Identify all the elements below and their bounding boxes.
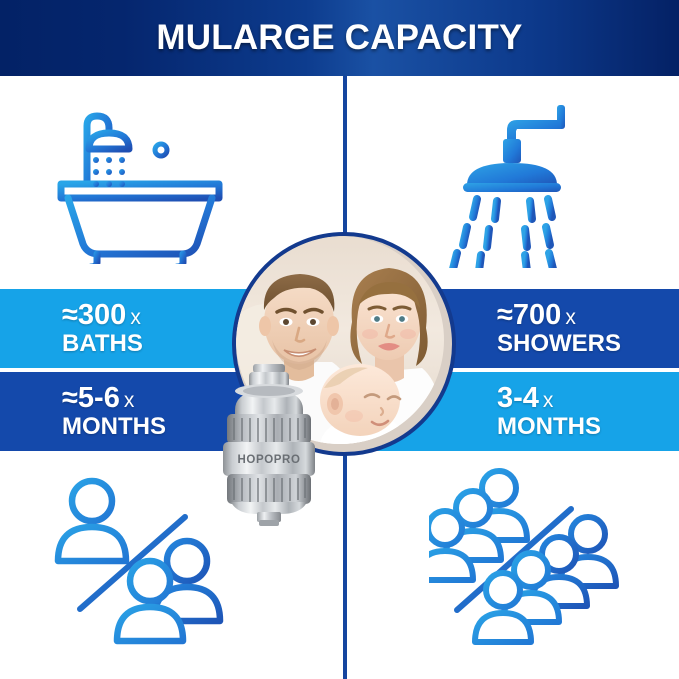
page-title: MULARGE CAPACITY [156, 18, 522, 58]
product-brand-label: HOPOPRO [238, 454, 301, 466]
rain-shower-head-icon [440, 90, 640, 270]
stat-showers-unit: x [565, 306, 576, 329]
bathtub-with-shower-icon [40, 92, 240, 267]
stat-right-months-label: MONTHS [497, 414, 679, 440]
stat-right-months-count: 3-4x [497, 383, 679, 413]
stat-showers-label: SHOWERS [497, 331, 679, 357]
stat-showers-count: ≈700x [497, 300, 679, 330]
header-banner: MULARGE CAPACITY [0, 0, 679, 76]
stat-baths-unit: x [130, 306, 141, 329]
product-infographic: MULARGE CAPACITY [0, 0, 679, 679]
stat-right-months-unit: x [543, 389, 554, 412]
shower-filter-product: HOPOPRO [213, 362, 325, 528]
stat-left-months-unit: x [124, 389, 135, 412]
three-people-over-four-people-icon [425, 462, 665, 652]
